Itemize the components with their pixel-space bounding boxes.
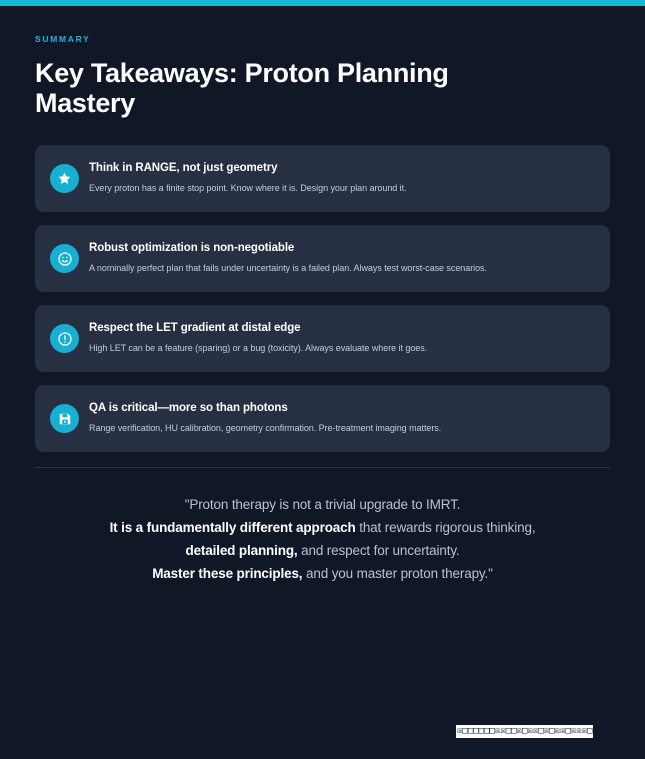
page-title: Key Takeaways: Proton Planning Mastery	[35, 58, 555, 118]
star-icon	[50, 164, 79, 193]
takeaway-card-desc: Range verification, HU calibration, geom…	[89, 422, 594, 435]
quote-line-4-emphasis: Master these principles,	[152, 566, 302, 581]
takeaway-card-desc: High LET can be a feature (sparing) or a…	[89, 342, 594, 355]
takeaway-card-list: Think in RANGE, not just geometry Every …	[35, 145, 610, 452]
takeaway-card[interactable]: Respect the LET gradient at distal edge …	[35, 305, 610, 372]
exclamation-circle-icon	[50, 324, 79, 353]
takeaway-card-desc: Every proton has a finite stop point. Kn…	[89, 182, 594, 195]
takeaway-card[interactable]: QA is critical—more so than photons Rang…	[35, 385, 610, 452]
takeaway-card-text: Think in RANGE, not just geometry Every …	[89, 160, 594, 195]
takeaway-card[interactable]: Robust optimization is non-negotiable A …	[35, 225, 610, 292]
takeaway-card-title: Respect the LET gradient at distal edge	[89, 320, 594, 336]
quote-line-3: detailed planning, and respect for uncer…	[35, 539, 610, 562]
quote-line-3-rest: and respect for uncertainty.	[298, 543, 460, 558]
takeaway-card-text: Respect the LET gradient at distal edge …	[89, 320, 594, 355]
quote-line-1: "Proton therapy is not a trivial upgrade…	[35, 493, 610, 516]
takeaway-card-title: Think in RANGE, not just geometry	[89, 160, 594, 176]
slide-content: SUMMARY Key Takeaways: Proton Planning M…	[0, 0, 645, 759]
quote-line-2-emphasis: It is a fundamentally different approach	[110, 520, 356, 535]
closing-quote: "Proton therapy is not a trivial upgrade…	[35, 493, 610, 585]
footer-watermark: ☒□□□□□□☒☒□□☒□☒☒□☒□☒☒□☒☒☒□	[456, 725, 593, 738]
quote-line-4: Master these principles, and you master …	[35, 562, 610, 585]
quote-line-3-emphasis: detailed planning,	[185, 543, 297, 558]
takeaway-card-title: QA is critical—more so than photons	[89, 400, 594, 416]
save-icon	[50, 404, 79, 433]
slide-root: SUMMARY Key Takeaways: Proton Planning M…	[0, 0, 645, 759]
eyebrow-label: SUMMARY	[35, 33, 610, 45]
section-divider	[35, 467, 610, 468]
takeaway-card-text: Robust optimization is non-negotiable A …	[89, 240, 594, 275]
quote-line-2-rest: that rewards rigorous thinking,	[356, 520, 536, 535]
takeaway-card[interactable]: Think in RANGE, not just geometry Every …	[35, 145, 610, 212]
takeaway-card-desc: A nominally perfect plan that fails unde…	[89, 262, 594, 275]
takeaway-card-title: Robust optimization is non-negotiable	[89, 240, 594, 256]
takeaway-card-text: QA is critical—more so than photons Rang…	[89, 400, 594, 435]
smiley-icon	[50, 244, 79, 273]
quote-line-4-rest: and you master proton therapy."	[302, 566, 492, 581]
quote-line-2: It is a fundamentally different approach…	[35, 516, 610, 539]
